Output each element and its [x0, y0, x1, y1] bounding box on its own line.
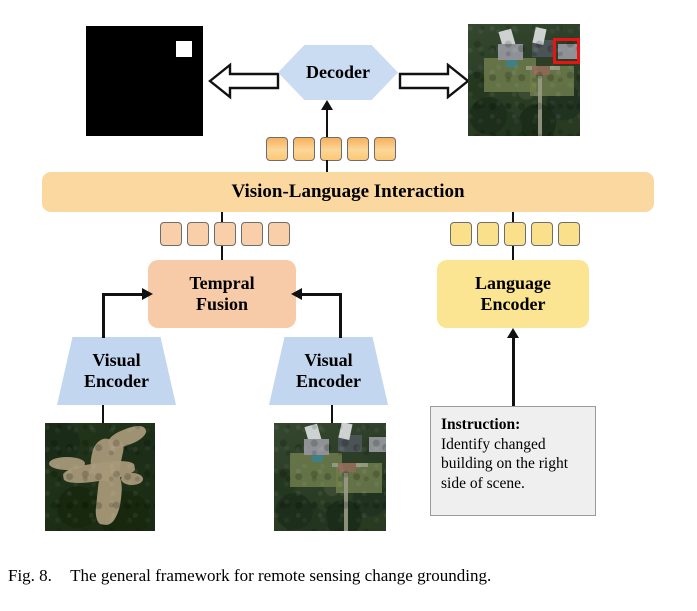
grounded-scene-texture	[468, 24, 580, 136]
mask-change-blob	[176, 41, 192, 57]
token-chip[interactable]	[293, 137, 315, 161]
connector-language-encoder-to-tokens	[512, 246, 514, 260]
connector-visual-tokens-to-vli	[221, 212, 223, 222]
token-chip[interactable]	[241, 222, 263, 246]
instruction-panel[interactable]: Instruction: Identify changed building o…	[430, 406, 596, 516]
vision-language-interaction-node[interactable]: Vision-Language Interaction	[42, 172, 654, 212]
connector-after-image-to-right-encoder	[331, 405, 333, 423]
token-chip[interactable]	[347, 137, 369, 161]
figure-root: Decoder	[0, 0, 697, 611]
language-encoder-label-line1: Language	[475, 273, 551, 294]
connector-left-encoder-vertical	[102, 293, 105, 338]
caption-text: The general framework for remote sensing…	[70, 566, 491, 585]
red-bounding-box	[553, 38, 580, 64]
language-encoder-node[interactable]: Language Encoder	[437, 260, 589, 328]
after-scene-image	[274, 423, 386, 531]
change-mask-image	[86, 26, 203, 136]
temporal-fusion-node[interactable]: Tempral Fusion	[148, 260, 296, 328]
instruction-body: Identify changed building on the right s…	[441, 435, 586, 494]
language-token-row	[450, 222, 580, 246]
connector-left-encoder-horizontal	[102, 293, 144, 296]
token-chip[interactable]	[266, 137, 288, 161]
temporal-fusion-label-line2: Fusion	[196, 294, 248, 315]
grounded-scene-image	[468, 24, 580, 136]
token-chip[interactable]	[160, 222, 182, 246]
language-encoder-label-line2: Encoder	[481, 294, 546, 315]
arrow-decoder-to-scene-icon	[398, 62, 470, 100]
connector-vli-to-tokens	[326, 160, 328, 172]
token-chip[interactable]	[320, 137, 342, 161]
connector-language-tokens-to-vli	[512, 212, 514, 222]
decoder-label: Decoder	[306, 62, 370, 83]
token-chip[interactable]	[374, 137, 396, 161]
before-scene-texture	[45, 423, 155, 531]
visual-encoder-left-label-line1: Visual	[92, 350, 140, 371]
instruction-title: Instruction:	[441, 416, 520, 433]
figure-caption: Fig. 8. The general framework for remote…	[8, 566, 491, 586]
connector-before-image-to-left-encoder	[102, 405, 104, 423]
visual-encoder-left-label-line2: Encoder	[84, 371, 149, 392]
token-chip[interactable]	[504, 222, 526, 246]
visual-encoder-right-label-line2: Encoder	[296, 371, 361, 392]
decoder-token-row	[266, 137, 396, 161]
visual-encoder-right-label-line1: Visual	[304, 350, 352, 371]
connector-right-encoder-vertical	[339, 293, 342, 338]
token-chip[interactable]	[558, 222, 580, 246]
connector-right-encoder-horizontal	[301, 293, 342, 296]
arrowhead-instruction-to-language-encoder-icon	[507, 328, 519, 338]
visual-encoder-right-node[interactable]: Visual Encoder	[269, 337, 388, 405]
vision-language-interaction-label: Vision-Language Interaction	[231, 181, 464, 203]
arrow-decoder-to-mask-icon	[208, 62, 280, 100]
connector-fusion-to-tokens	[221, 246, 223, 260]
temporal-fusion-label-line1: Tempral	[189, 273, 254, 294]
arrowhead-right-encoder-to-fusion-icon	[291, 288, 302, 300]
token-chip[interactable]	[531, 222, 553, 246]
caption-label: Fig. 8.	[8, 566, 52, 585]
connector-instruction-to-language-encoder	[512, 338, 515, 406]
token-chip[interactable]	[214, 222, 236, 246]
after-scene-texture	[274, 423, 386, 531]
arrowhead-tokens-to-decoder-icon	[321, 100, 333, 110]
token-chip[interactable]	[477, 222, 499, 246]
token-chip[interactable]	[450, 222, 472, 246]
visual-encoder-left-node[interactable]: Visual Encoder	[57, 337, 176, 405]
visual-token-row	[160, 222, 290, 246]
token-chip[interactable]	[268, 222, 290, 246]
decoder-node[interactable]: Decoder	[278, 45, 398, 100]
before-scene-image	[45, 423, 155, 531]
arrowhead-left-encoder-to-fusion-icon	[142, 288, 153, 300]
token-chip[interactable]	[187, 222, 209, 246]
